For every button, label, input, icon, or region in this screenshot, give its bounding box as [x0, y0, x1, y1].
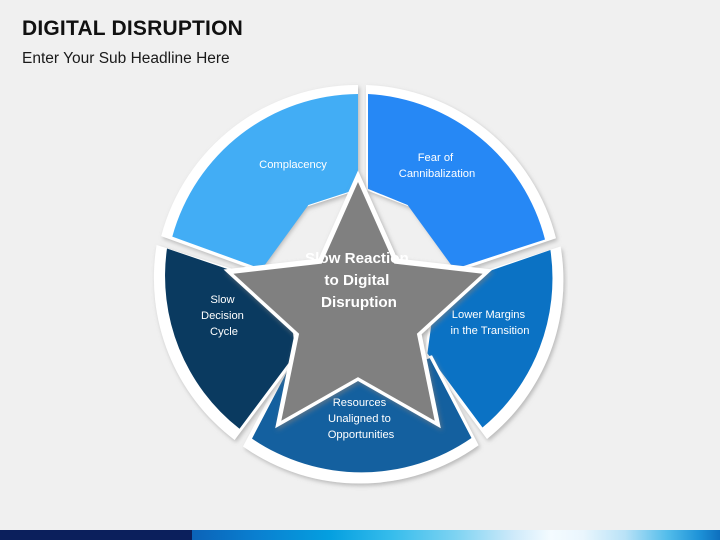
- segment-complacency-label: Complacency: [259, 159, 327, 171]
- page-title: DIGITAL DISRUPTION: [22, 17, 243, 41]
- footer-bar-gradient-segment: [192, 530, 720, 540]
- footer-accent-bar: [0, 530, 720, 540]
- slide-canvas: DIGITAL DISRUPTION Enter Your Sub Headli…: [0, 0, 720, 540]
- star-petal-diagram: Complacency Fear of Cannibalization Lowe…: [148, 78, 568, 498]
- page-subtitle: Enter Your Sub Headline Here: [22, 50, 230, 68]
- segment-resources-label: Resources Unaligned to Opportunities: [328, 397, 395, 441]
- diagram-svg: Complacency Fear of Cannibalization Lowe…: [148, 78, 568, 498]
- footer-bar-navy-segment: [0, 530, 192, 540]
- segment-fear-of-cannibalization[interactable]: Fear of Cannibalization: [366, 85, 556, 272]
